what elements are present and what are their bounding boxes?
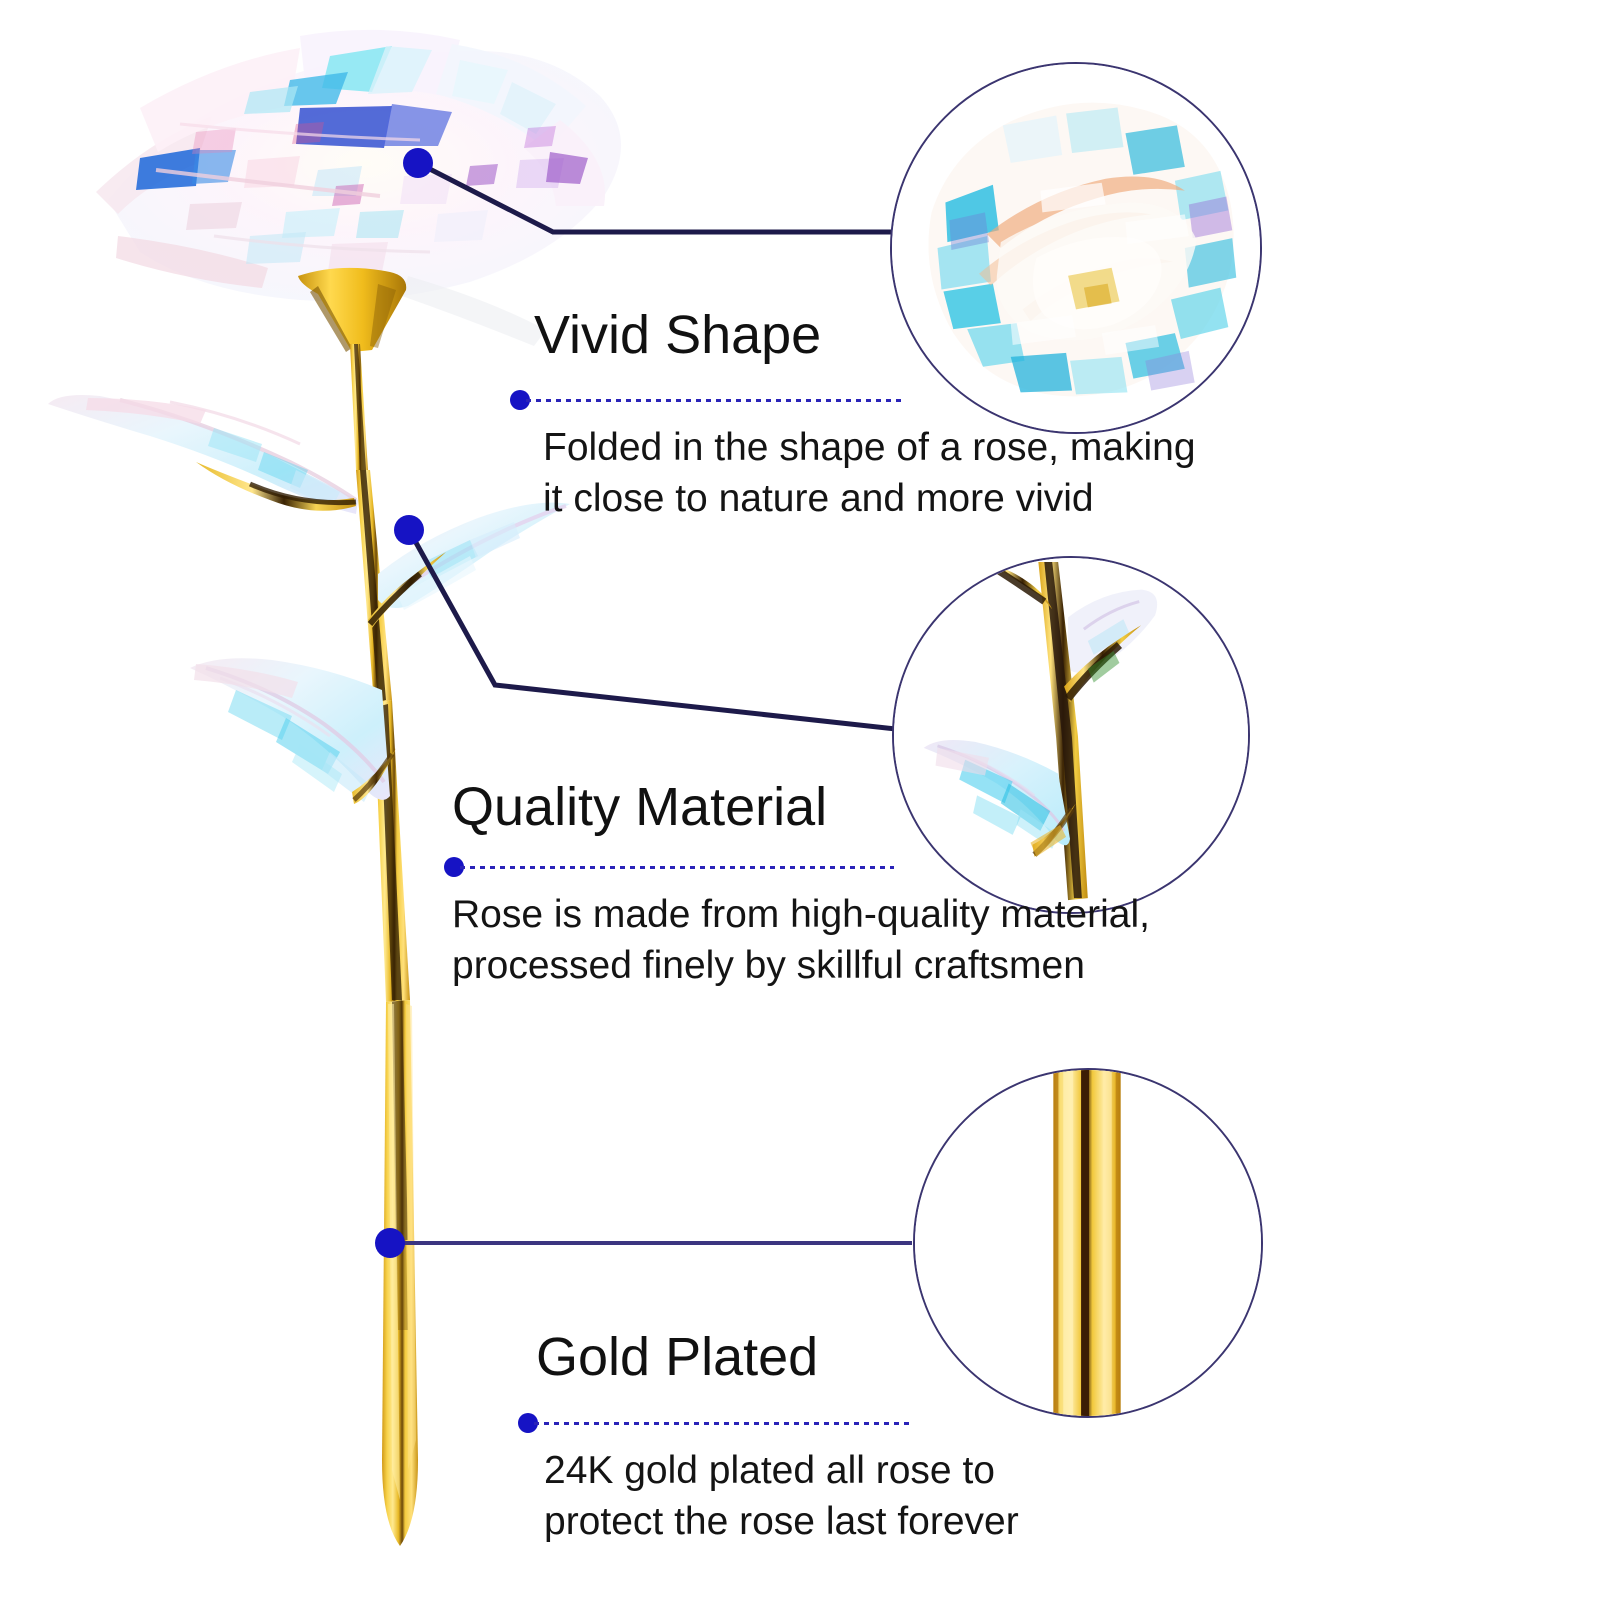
divider-quality-material	[444, 862, 894, 872]
divider-dashed-line	[460, 866, 894, 869]
feature-description-quality-material: Rose is made from high-quality material,…	[452, 890, 1252, 991]
feature-desc-block-vivid-shape: Folded in the shape of a rose, making it…	[543, 423, 1283, 524]
zoom-circle-gold-plated	[913, 1068, 1263, 1418]
feature-vivid-shape: Vivid Shape	[534, 307, 821, 364]
leader-line-gold-plated	[375, 1228, 912, 1258]
divider-vivid-shape	[510, 395, 906, 405]
iridescent-leaf	[190, 658, 396, 804]
divider-gold-plated	[518, 1418, 910, 1428]
feature-title-gold-plated: Gold Plated	[536, 1329, 818, 1386]
feature-gold-plated: Gold Plated	[536, 1329, 818, 1386]
infographic-canvas: Vivid Shape Folded in the shape of a ros…	[0, 0, 1600, 1600]
divider-dashed-line	[534, 1422, 910, 1425]
zoom-circle-gold-plated-image	[915, 1070, 1261, 1416]
feature-title-quality-material: Quality Material	[452, 779, 827, 836]
feature-desc-block-gold-plated: 24K gold plated all rose to protect the …	[544, 1446, 1304, 1547]
feature-quality-material: Quality Material	[452, 779, 827, 836]
zoom-circle-vivid-shape	[890, 62, 1262, 434]
divider-dashed-line	[526, 399, 906, 402]
zoom-circle-quality-material	[892, 556, 1250, 914]
feature-desc-block-quality-material: Rose is made from high-quality material,…	[452, 890, 1252, 991]
feature-title-vivid-shape: Vivid Shape	[534, 307, 821, 364]
zoom-circle-vivid-shape-image	[892, 64, 1260, 432]
gold-calyx	[298, 268, 406, 352]
zoom-circle-quality-material-image	[894, 558, 1248, 912]
iridescent-leaf	[48, 395, 358, 514]
feature-description-gold-plated: 24K gold plated all rose to protect the …	[544, 1446, 1304, 1547]
feature-description-vivid-shape: Folded in the shape of a rose, making it…	[543, 423, 1283, 524]
